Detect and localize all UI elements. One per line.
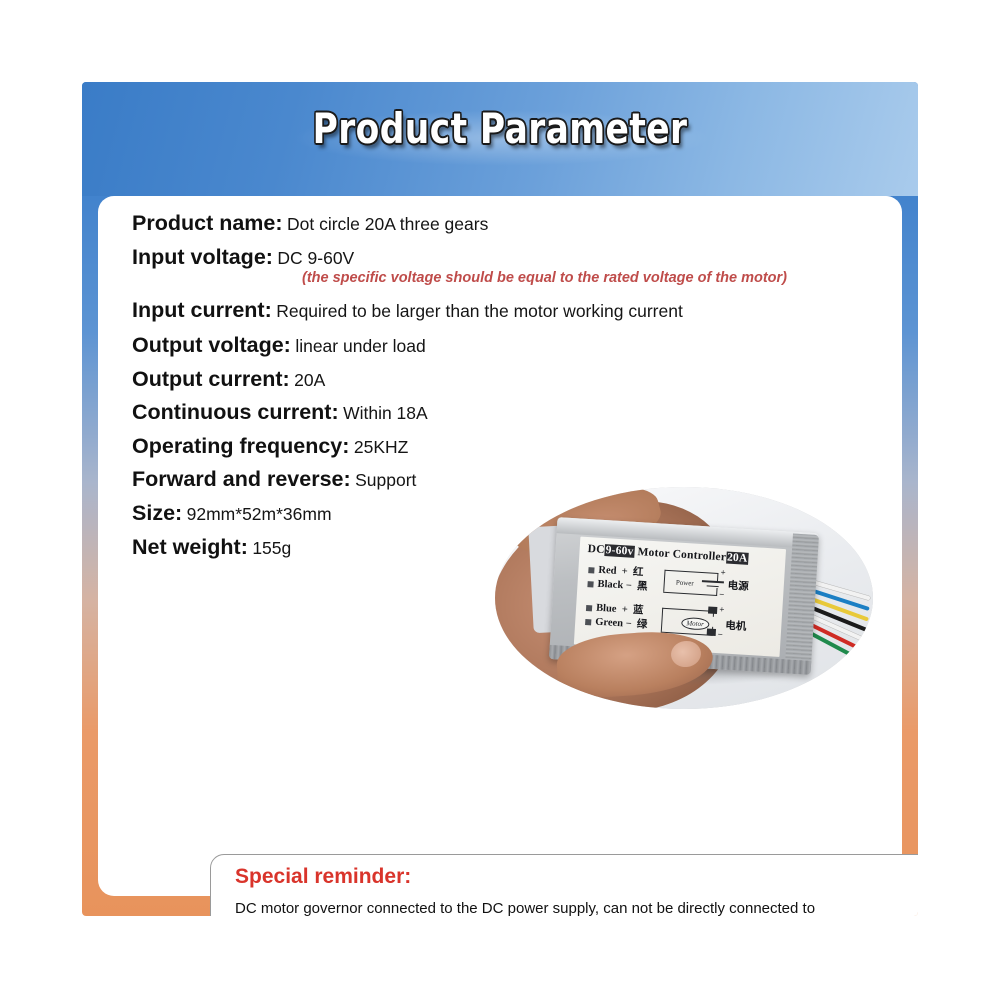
wire-color-en: Black (597, 579, 623, 592)
spec-value: 92mm*52m*36mm (187, 504, 332, 524)
spec-row-output-current: Output current: 20A (132, 368, 872, 392)
wire-sign: + (621, 566, 628, 577)
spec-value: Within 18A (343, 403, 428, 423)
motor-plus-sign: + (719, 604, 725, 614)
color-swatch-icon (587, 581, 593, 587)
color-swatch-icon (586, 605, 592, 611)
spec-label: Input voltage: (132, 245, 273, 269)
color-swatch-icon (585, 619, 591, 625)
spec-label: Net weight: (132, 535, 248, 559)
spec-label: Product name: (132, 211, 283, 235)
spec-label: Forward and reverse: (132, 467, 351, 491)
reminder-paragraph: DC motor governor connected to the DC po… (235, 899, 835, 916)
spec-row-continuous-current: Continuous current: Within 18A (132, 401, 872, 425)
wire-color-cn: 绿 (636, 619, 647, 631)
spec-row-output-voltage: Output voltage: linear under load (132, 334, 872, 358)
spec-row-input-current: Input current: Required to be larger tha… (132, 299, 872, 323)
spec-row-input-voltage: Input voltage: DC 9-60V (the specific vo… (132, 246, 872, 288)
wire-color-cn: 蓝 (633, 605, 644, 617)
spec-value: DC 9-60V (277, 248, 354, 268)
wire-sign: + (621, 604, 628, 615)
spec-label: Output current: (132, 367, 290, 391)
motor-terminal (708, 607, 717, 615)
special-reminder-box: Special reminder: DC motor governor conn… (210, 854, 918, 916)
spec-row-product-name: Product name: Dot circle 20A three gears (132, 212, 872, 236)
power-diagram-line (717, 573, 718, 581)
spec-value: 20A (294, 370, 325, 390)
label-title-middle: Motor Controller (637, 546, 726, 563)
wire-color-cn: 红 (633, 567, 644, 579)
spec-label: Continuous current: (132, 400, 339, 424)
label-title-prefix: DC (587, 543, 605, 556)
label-row-black: Black − 黑 (587, 575, 648, 594)
power-diagram-line (663, 592, 717, 596)
page-title: Product Parameter (157, 104, 843, 153)
product-info-frame: Product Parameter Product name: Dot circ… (82, 82, 918, 916)
color-swatch-icon (588, 567, 594, 573)
product-photo: DC9-60v Motor Controller20A Red + 红 Blac… (495, 487, 873, 709)
motor-diagram-line (661, 608, 663, 632)
special-reminder-title: Special reminder: (235, 865, 411, 889)
spec-card: Product name: Dot circle 20A three gears… (98, 196, 902, 896)
spec-row-operating-frequency: Operating frequency: 25KHZ (132, 435, 872, 459)
power-diagram-line (702, 580, 724, 583)
motor-diagram-word: Motor (681, 617, 709, 631)
label-row-green: Green − 绿 (585, 613, 648, 632)
wire-sign: − (625, 580, 632, 591)
spec-label: Size: (132, 501, 182, 525)
spec-value: Dot circle 20A three gears (287, 214, 488, 234)
spec-value: linear under load (295, 336, 425, 356)
header-banner: Product Parameter (82, 82, 918, 196)
wire-color-en: Green (595, 617, 623, 630)
label-voltage-badge: 9-60v (604, 544, 635, 558)
power-diagram-line (707, 585, 719, 587)
power-plus-sign: + (720, 567, 726, 577)
spec-value: Required to be larger than the motor wor… (276, 301, 683, 321)
motor-label-cn: 电机 (725, 618, 747, 634)
spec-value: Support (355, 470, 416, 490)
label-current-badge: 20A (726, 552, 749, 565)
spec-label: Operating frequency: (132, 434, 349, 458)
motor-diagram-line (662, 608, 714, 612)
spec-value: 25KHZ (354, 437, 408, 457)
spec-note-voltage: (the specific voltage should be equal to… (302, 271, 872, 287)
power-diagram-line (663, 570, 665, 592)
wire-sign: − (625, 618, 632, 629)
spec-value: 155g (252, 538, 291, 558)
power-label-cn: 电源 (727, 578, 749, 594)
power-diagram-line (665, 570, 719, 574)
motor-minus-sign: − (717, 629, 723, 639)
spec-label: Output voltage: (132, 333, 291, 357)
spec-label: Input current: (132, 298, 272, 322)
wire-color-cn: 黑 (637, 581, 648, 593)
power-diagram-line (716, 588, 717, 596)
power-minus-sign: − (719, 589, 725, 599)
power-diagram-word: Power (676, 578, 694, 587)
